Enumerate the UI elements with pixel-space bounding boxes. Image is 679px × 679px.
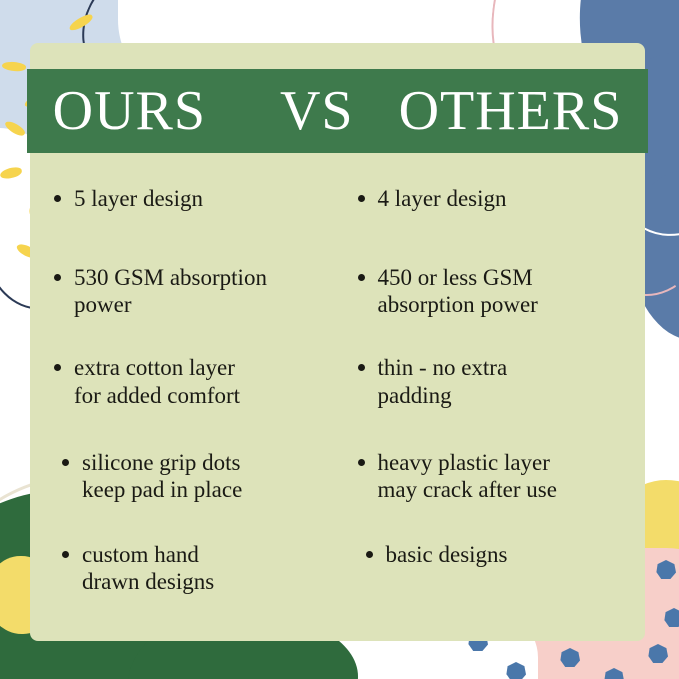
bullet-icon bbox=[358, 195, 365, 202]
comparison-columns: 5 layer design530 GSM absorption powerex… bbox=[30, 163, 645, 641]
bullet-icon bbox=[358, 364, 365, 371]
header-band: OURS VS OTHERS bbox=[27, 69, 648, 153]
list-item: 5 layer design bbox=[54, 185, 332, 212]
list-item: custom hand drawn designs bbox=[62, 541, 332, 595]
list-item: 450 or less GSM absorption power bbox=[358, 264, 636, 318]
bullet-icon bbox=[358, 459, 365, 466]
list-item-label: basic designs bbox=[366, 541, 636, 568]
bullet-icon bbox=[62, 551, 69, 558]
list-item-label: silicone grip dots keep pad in place bbox=[62, 449, 332, 503]
list-item-label: 450 or less GSM absorption power bbox=[358, 264, 636, 318]
others-feature-list: 4 layer design450 or less GSM absorption… bbox=[358, 185, 636, 568]
list-item: thin - no extra padding bbox=[358, 354, 636, 408]
list-item-label: 5 layer design bbox=[54, 185, 332, 212]
bullet-icon bbox=[54, 195, 61, 202]
list-item-label: 4 layer design bbox=[358, 185, 636, 212]
list-item-label: heavy plastic layer may crack after use bbox=[358, 449, 636, 503]
list-item-label: extra cotton layer for added comfort bbox=[54, 354, 332, 408]
list-item-label: thin - no extra padding bbox=[358, 354, 636, 408]
list-item: extra cotton layer for added comfort bbox=[54, 354, 332, 408]
list-item-label: 530 GSM absorption power bbox=[54, 264, 332, 318]
bullet-icon bbox=[62, 459, 69, 466]
column-others: 4 layer design450 or less GSM absorption… bbox=[342, 163, 646, 641]
page-title: OURS VS OTHERS bbox=[53, 83, 623, 139]
list-item: heavy plastic layer may crack after use bbox=[358, 449, 636, 503]
list-item: silicone grip dots keep pad in place bbox=[62, 449, 332, 503]
infographic-canvas: OURS VS OTHERS 5 layer design530 GSM abs… bbox=[0, 0, 679, 679]
bullet-icon bbox=[366, 551, 373, 558]
list-item: basic designs bbox=[366, 541, 636, 568]
comparison-card: OURS VS OTHERS 5 layer design530 GSM abs… bbox=[30, 43, 645, 641]
bullet-icon bbox=[358, 274, 365, 281]
list-item: 4 layer design bbox=[358, 185, 636, 212]
ours-feature-list: 5 layer design530 GSM absorption powerex… bbox=[54, 185, 332, 595]
list-item: 530 GSM absorption power bbox=[54, 264, 332, 318]
list-item-label: custom hand drawn designs bbox=[62, 541, 332, 595]
column-ours: 5 layer design530 GSM absorption powerex… bbox=[30, 163, 342, 641]
